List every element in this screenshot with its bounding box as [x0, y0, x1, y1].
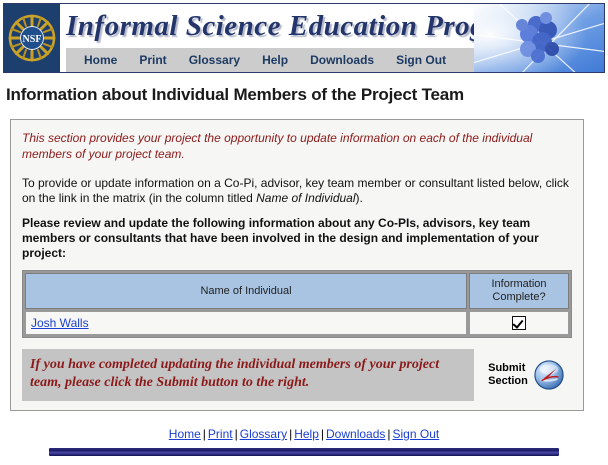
instructions-text-part2: ). — [356, 191, 363, 205]
nav-link-downloads[interactable]: Downloads — [310, 53, 374, 67]
footer-sep-1: | — [201, 427, 208, 441]
submit-label-line2: Section — [488, 375, 528, 388]
submit-pen-icon[interactable] — [534, 360, 564, 390]
instructions-text: To provide or update information on a Co… — [22, 176, 572, 206]
content-panel: This section provides your project the o… — [10, 119, 584, 411]
column-header-name: Name of Individual — [25, 273, 467, 309]
footer-link-downloads[interactable]: Downloads — [326, 427, 385, 441]
column-header-information-complete: Information Complete? — [469, 273, 569, 309]
primary-nav: Home Print Glossary Help Downloads Sign … — [66, 48, 476, 72]
nav-link-help[interactable]: Help — [262, 53, 288, 67]
nav-link-home[interactable]: Home — [84, 53, 117, 67]
footer-divider-bar — [49, 448, 559, 456]
footer-link-home[interactable]: Home — [169, 427, 201, 441]
footer-sep-4: | — [319, 427, 326, 441]
review-prompt-text: Please review and update the following i… — [22, 216, 572, 261]
molecule-cluster-icon — [474, 4, 604, 72]
footer-sep-2: | — [233, 427, 240, 441]
site-banner: NSF Informal Science Education Program H… — [3, 3, 605, 73]
nsf-logo-cell: NSF — [4, 4, 60, 72]
banner-molecule-graphic — [474, 4, 604, 72]
nav-link-sign-out[interactable]: Sign Out — [396, 53, 446, 67]
cell-individual-name: Josh Walls — [25, 311, 467, 335]
table-header-row: Name of Individual Information Complete? — [25, 273, 569, 309]
submit-section-label: Submit Section — [488, 362, 528, 388]
cell-information-complete — [469, 311, 569, 335]
footer-links: Home|Print|Glossary|Help|Downloads|Sign … — [0, 427, 608, 441]
submit-control-group[interactable]: Submit Section — [474, 360, 572, 390]
submit-instruction-text: If you have completed updating the indiv… — [22, 349, 474, 401]
footer-link-help[interactable]: Help — [294, 427, 319, 441]
nsf-seal-icon: NSF — [6, 12, 58, 64]
submit-label-line1: Submit — [488, 362, 528, 375]
intro-text: This section provides your project the o… — [22, 130, 572, 162]
submit-row: If you have completed updating the indiv… — [22, 349, 572, 401]
nav-link-glossary[interactable]: Glossary — [189, 53, 240, 67]
footer-sep-5: | — [385, 427, 392, 441]
page-title: Information about Individual Members of … — [6, 85, 608, 105]
member-link-josh-walls[interactable]: Josh Walls — [31, 316, 89, 330]
footer-link-print[interactable]: Print — [208, 427, 233, 441]
footer-link-sign-out[interactable]: Sign Out — [393, 427, 440, 441]
svg-text:NSF: NSF — [23, 34, 42, 45]
banner-title: Informal Science Education Program — [66, 6, 476, 48]
nav-link-print[interactable]: Print — [139, 53, 166, 67]
instructions-column-name: Name of Individual — [256, 191, 355, 205]
table-row: Josh Walls — [25, 311, 569, 335]
information-complete-checkbox[interactable] — [512, 316, 526, 330]
project-team-table: Name of Individual Information Complete?… — [22, 270, 572, 338]
footer-link-glossary[interactable]: Glossary — [240, 427, 287, 441]
